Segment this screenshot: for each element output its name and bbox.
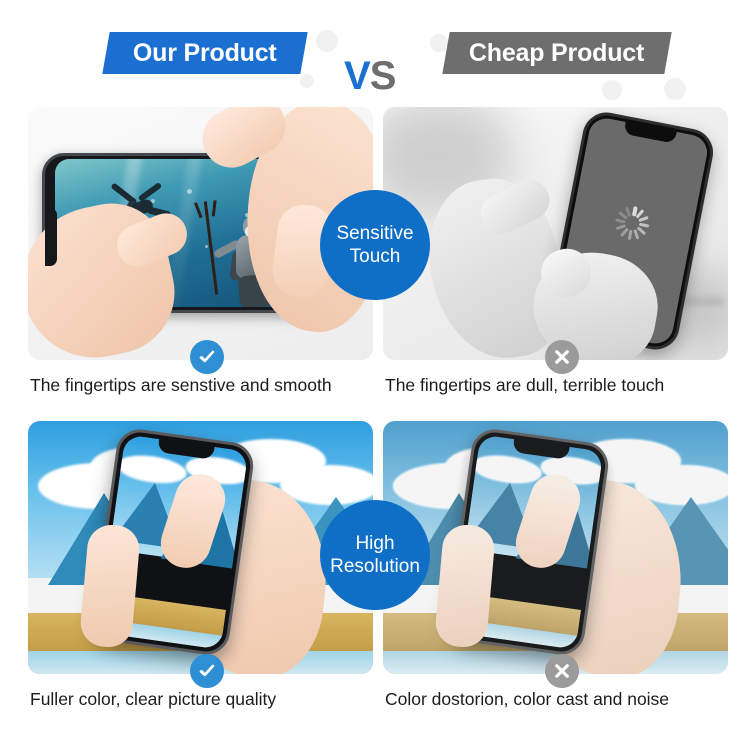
check-icon bbox=[190, 340, 224, 374]
header: Our Product VS Cheap Product bbox=[0, 24, 750, 86]
callout-line-2: Resolution bbox=[330, 555, 420, 578]
decorative-dot bbox=[316, 30, 338, 52]
callout-line-1: Sensitive bbox=[336, 222, 413, 245]
caption-top-right: The fingertips are dull, terrible touch bbox=[385, 375, 730, 396]
cheap-product-label: Cheap Product bbox=[469, 39, 644, 68]
our-product-banner: Our Product bbox=[102, 32, 307, 74]
photo-landscape-washed bbox=[383, 421, 728, 674]
loading-spinner-icon bbox=[613, 203, 653, 243]
caption-top-left: The fingertips are senstive and smooth bbox=[30, 375, 375, 396]
decorative-dot bbox=[664, 78, 686, 100]
decorative-dot bbox=[602, 80, 622, 100]
cross-icon bbox=[545, 340, 579, 374]
photo-loading-phone bbox=[383, 107, 728, 360]
scene-background bbox=[383, 421, 728, 674]
cross-icon bbox=[545, 654, 579, 688]
vs-label: VS bbox=[344, 54, 395, 99]
callout-line-1: High bbox=[355, 532, 394, 555]
cheap-product-banner: Cheap Product bbox=[442, 32, 671, 74]
decorative-dot bbox=[430, 34, 448, 52]
vs-v: V bbox=[344, 54, 370, 98]
phone-notch bbox=[45, 208, 57, 266]
check-icon bbox=[190, 654, 224, 688]
our-product-label: Our Product bbox=[133, 39, 277, 68]
decorative-dot bbox=[300, 74, 314, 88]
caption-bottom-right: Color dostorion, color cast and noise bbox=[385, 689, 730, 710]
callout-sensitive-touch: Sensitive Touch bbox=[320, 190, 430, 300]
caption-bottom-left: Fuller color, clear picture quality bbox=[30, 689, 375, 710]
comparison-infographic: Our Product VS Cheap Product bbox=[0, 0, 750, 750]
scene-background bbox=[383, 107, 728, 360]
callout-line-2: Touch bbox=[350, 245, 401, 268]
callout-high-resolution: High Resolution bbox=[320, 500, 430, 610]
vs-s: S bbox=[370, 54, 396, 98]
